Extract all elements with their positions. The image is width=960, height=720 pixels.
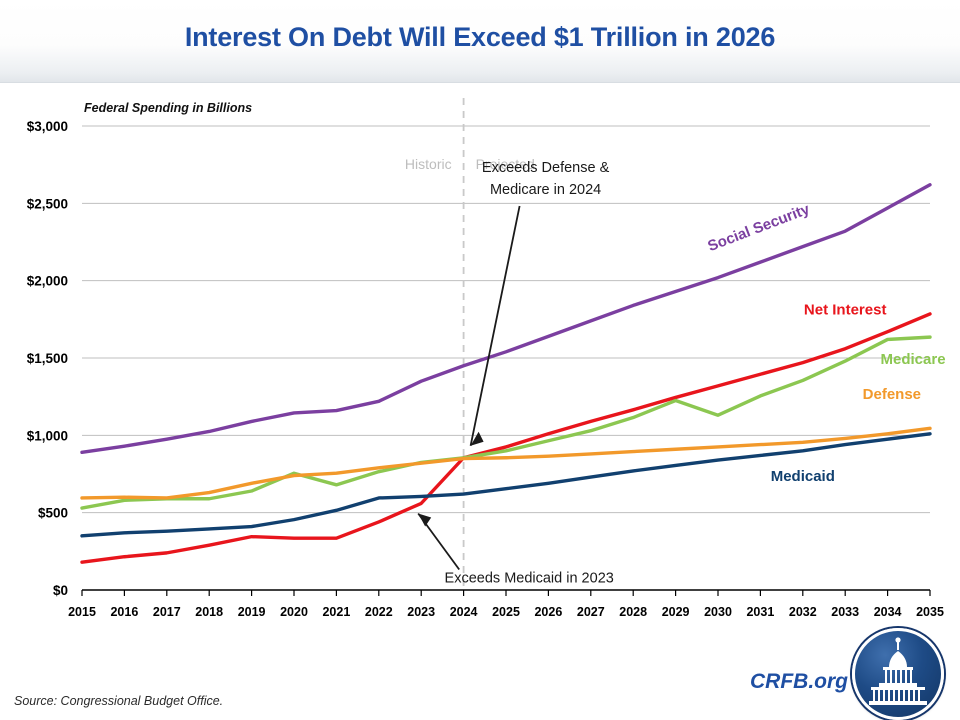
series-lines	[82, 185, 930, 562]
x-tick-label: 2016	[110, 605, 138, 619]
capitol-dome-icon	[852, 628, 944, 720]
series-label-defense: Defense	[863, 386, 921, 403]
x-tick-label: 2035	[916, 605, 944, 619]
annotation-exceeds-defense-medicare-line1: Exceeds Defense &	[482, 160, 610, 176]
annotation-arrowhead-2	[418, 514, 431, 527]
x-tick-label: 2033	[831, 605, 859, 619]
x-tick-label: 2015	[68, 605, 96, 619]
x-tick-label: 2020	[280, 605, 308, 619]
series-line-social-security	[82, 185, 930, 453]
x-tick-label: 2023	[407, 605, 435, 619]
series-label-net-interest: Net Interest	[804, 302, 887, 319]
x-tick-label: 2027	[577, 605, 605, 619]
annotation-exceeds-defense-medicare-line2: Medicare in 2024	[490, 182, 601, 198]
x-tick-label: 2018	[195, 605, 223, 619]
x-tick-label: 2028	[619, 605, 647, 619]
y-tick-label: $0	[53, 583, 68, 598]
y-tick-label: $2,500	[27, 196, 68, 211]
brand-label: CRFB.org	[750, 670, 848, 694]
y-tick-label: $2,000	[27, 274, 68, 289]
historic-label: Historic	[405, 156, 452, 172]
series-label-medicaid: Medicaid	[771, 468, 835, 485]
x-tick-label: 2026	[534, 605, 562, 619]
x-tick-label: 2030	[704, 605, 732, 619]
title-band: Interest On Debt Will Exceed $1 Trillion…	[0, 0, 960, 83]
series-label-social-security: Social Security	[706, 200, 813, 255]
x-tick-label: 2024	[450, 605, 478, 619]
annotation-arrow-1	[471, 206, 520, 446]
line-chart: $0$500$1,000$1,500$2,000$2,500$3,000 201…	[0, 82, 960, 642]
source-note: Source: Congressional Budget Office.	[14, 694, 223, 708]
y-axis-units-note: Federal Spending in Billions	[84, 101, 252, 115]
x-tick-label: 2017	[153, 605, 181, 619]
x-tick-label: 2029	[662, 605, 690, 619]
annotation-exceeds-medicaid: Exceeds Medicaid in 2023	[445, 571, 614, 587]
x-tick-label: 2032	[789, 605, 817, 619]
series-labels: Social SecurityNet InterestMedicareDefen…	[706, 200, 946, 484]
x-axis-labels: 2015201620172018201920202021202220232024…	[68, 605, 944, 619]
x-tick-label: 2031	[746, 605, 774, 619]
x-tick-label: 2025	[492, 605, 520, 619]
y-tick-label: $1,500	[27, 351, 68, 366]
chart-container: $0$500$1,000$1,500$2,000$2,500$3,000 201…	[0, 82, 960, 642]
y-tick-label: $3,000	[27, 119, 68, 134]
capitol-dome-glyph	[855, 631, 941, 717]
x-tick-label: 2021	[322, 605, 350, 619]
y-tick-label: $500	[38, 506, 68, 521]
x-axis	[82, 590, 930, 596]
y-tick-label: $1,000	[27, 428, 68, 443]
x-tick-label: 2034	[874, 605, 902, 619]
slide-root: Interest On Debt Will Exceed $1 Trillion…	[0, 0, 960, 720]
x-tick-label: 2022	[365, 605, 393, 619]
y-axis-labels: $0$500$1,000$1,500$2,000$2,500$3,000	[27, 119, 68, 598]
x-tick-label: 2019	[238, 605, 266, 619]
series-label-medicare: Medicare	[881, 351, 946, 368]
page-title: Interest On Debt Will Exceed $1 Trillion…	[0, 22, 960, 53]
